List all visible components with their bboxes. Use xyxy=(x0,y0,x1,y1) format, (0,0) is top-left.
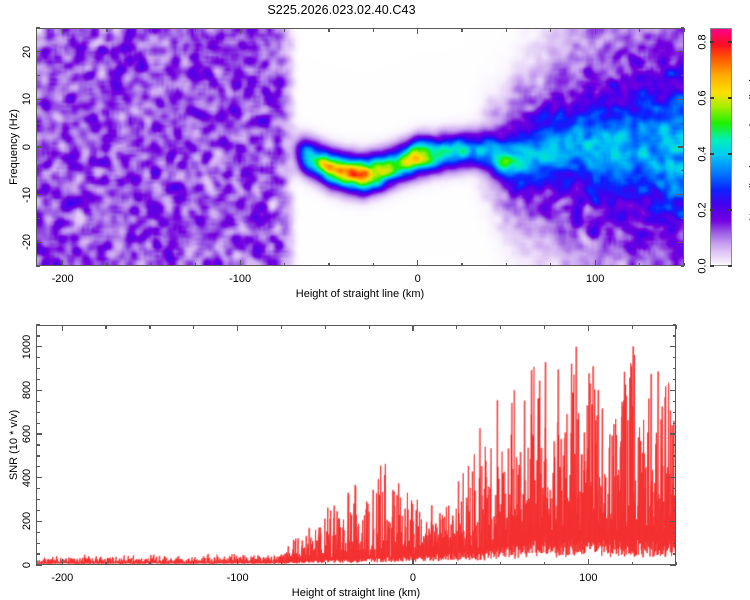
y-tick-right xyxy=(673,324,677,325)
x-tick xyxy=(369,562,370,566)
x-tick-top xyxy=(105,325,106,329)
x-tick xyxy=(500,562,501,566)
y-tick xyxy=(36,466,40,467)
x-tick xyxy=(595,260,596,266)
y-tick xyxy=(36,521,42,522)
x-tick-top xyxy=(595,28,596,34)
x-tick-label: 100 xyxy=(586,273,604,285)
x-tick-top xyxy=(151,28,152,32)
y-tick-right xyxy=(673,455,677,456)
y-tick-label: 1000 xyxy=(21,335,33,359)
y-tick xyxy=(36,499,40,500)
y-tick-label: 0 xyxy=(21,562,33,568)
x-tick xyxy=(506,263,507,267)
x-tick-top xyxy=(149,325,150,329)
y-tick-right xyxy=(670,390,676,391)
y-tick xyxy=(36,510,40,511)
snr-panel xyxy=(36,325,676,565)
y-tick-label: 800 xyxy=(21,381,33,399)
x-tick xyxy=(62,559,63,565)
y-tick-right xyxy=(681,265,685,266)
y-tick xyxy=(36,564,42,565)
x-tick-label: -100 xyxy=(227,572,249,584)
spectrogram-x-axis-title: Height of straight line (km) xyxy=(296,288,424,300)
y-tick-right xyxy=(673,368,677,369)
y-tick xyxy=(36,553,40,554)
colorbar-tick xyxy=(728,41,732,42)
y-tick-right xyxy=(673,444,677,445)
x-tick-label: -100 xyxy=(229,273,251,285)
y-tick xyxy=(36,433,42,434)
x-tick-top xyxy=(369,325,370,329)
snr-y-axis-title: SNR (10 * v/v) xyxy=(8,410,20,480)
y-tick xyxy=(36,324,40,325)
y-tick xyxy=(36,218,40,219)
x-tick-top xyxy=(237,325,238,331)
y-tick-right xyxy=(681,218,685,219)
x-tick-top xyxy=(417,28,418,34)
y-tick xyxy=(36,27,40,28)
y-tick xyxy=(36,170,40,171)
y-tick-label: 200 xyxy=(21,512,33,530)
colorbar-tick xyxy=(710,265,714,266)
y-tick xyxy=(36,390,42,391)
x-tick-top xyxy=(461,28,462,32)
y-tick-right xyxy=(673,488,677,489)
y-tick xyxy=(36,265,40,266)
y-tick xyxy=(36,146,42,147)
y-tick-right xyxy=(673,553,677,554)
y-tick-right xyxy=(673,532,677,533)
y-tick-right xyxy=(673,499,677,500)
x-tick-top xyxy=(62,325,63,331)
x-tick xyxy=(461,263,462,267)
y-tick xyxy=(36,532,40,533)
spectrogram-panel xyxy=(36,28,684,266)
y-tick-right xyxy=(681,75,685,76)
x-tick-top xyxy=(328,28,329,32)
y-tick-label: 10 xyxy=(21,93,33,105)
x-tick xyxy=(412,559,413,565)
colorbar-tick-label: 0.2 xyxy=(696,202,708,217)
y-tick-right xyxy=(681,27,685,28)
x-tick xyxy=(62,260,63,266)
y-tick xyxy=(36,242,42,243)
y-tick-right xyxy=(681,123,685,124)
y-tick-right xyxy=(681,170,685,171)
x-tick xyxy=(588,559,589,565)
x-tick xyxy=(328,263,329,267)
x-tick-top xyxy=(506,28,507,32)
x-tick-top xyxy=(193,325,194,329)
x-tick-top xyxy=(544,325,545,329)
figure-title: S225.2026.023.02.40.C43 xyxy=(0,3,683,17)
x-tick-label: 0 xyxy=(410,572,416,584)
y-tick xyxy=(36,488,40,489)
y-tick-right xyxy=(673,357,677,358)
y-tick-right xyxy=(678,146,684,147)
y-tick-right xyxy=(673,466,677,467)
y-tick xyxy=(36,477,42,478)
colorbar-tick-label: 0.6 xyxy=(696,90,708,105)
y-tick xyxy=(36,123,40,124)
colorbar-tick-label: 0.8 xyxy=(696,34,708,49)
x-tick-top xyxy=(639,28,640,32)
y-tick-label: 0 xyxy=(21,144,33,150)
colorbar-tick xyxy=(710,209,714,210)
x-tick-top xyxy=(240,28,241,34)
x-tick xyxy=(281,562,282,566)
x-tick xyxy=(193,562,194,566)
x-tick-label: 100 xyxy=(579,572,597,584)
spectrogram-y-axis-title: Frequency (Hz) xyxy=(8,109,20,185)
y-tick xyxy=(36,357,40,358)
y-tick-right xyxy=(673,379,677,380)
y-tick xyxy=(36,99,42,100)
colorbar-tick-label: 0.4 xyxy=(696,146,708,161)
colorbar-tick xyxy=(710,97,714,98)
colorbar-tick-label: 0.0 xyxy=(696,258,708,273)
colorbar-tick xyxy=(728,97,732,98)
y-tick-right xyxy=(673,412,677,413)
snr-x-axis-title: Height of straight line (km) xyxy=(292,587,420,599)
y-tick-right xyxy=(678,194,684,195)
y-tick-label: 600 xyxy=(21,425,33,443)
y-tick-right xyxy=(673,423,677,424)
x-tick xyxy=(544,562,545,566)
y-tick-right xyxy=(670,521,676,522)
y-tick xyxy=(36,444,40,445)
x-tick xyxy=(639,263,640,267)
y-tick xyxy=(36,412,40,413)
colorbar-tick xyxy=(728,153,732,154)
x-tick xyxy=(195,263,196,267)
snr-canvas xyxy=(37,326,675,564)
y-tick-right xyxy=(678,99,684,100)
x-tick-top xyxy=(412,325,413,331)
x-tick xyxy=(550,263,551,267)
y-tick-label: 400 xyxy=(21,469,33,487)
colorbar-tick xyxy=(728,265,732,266)
x-tick xyxy=(373,263,374,267)
x-tick-top xyxy=(373,28,374,32)
y-tick-label: -10 xyxy=(21,187,33,203)
y-tick xyxy=(36,379,40,380)
x-tick-label: -200 xyxy=(52,273,74,285)
y-tick-right xyxy=(673,401,677,402)
y-tick xyxy=(36,543,40,544)
y-tick xyxy=(36,455,40,456)
x-tick-top xyxy=(62,28,63,34)
x-tick-top xyxy=(106,28,107,32)
y-tick-right xyxy=(670,477,676,478)
y-tick xyxy=(36,51,42,52)
colorbar-gradient xyxy=(710,28,732,266)
x-tick-top xyxy=(632,325,633,329)
x-tick xyxy=(325,562,326,566)
x-tick-top xyxy=(325,325,326,329)
x-tick xyxy=(237,559,238,565)
x-tick xyxy=(106,263,107,267)
y-tick-right xyxy=(670,433,676,434)
colorbar-tick xyxy=(710,41,714,42)
y-tick-right xyxy=(670,564,676,565)
y-tick xyxy=(36,335,40,336)
x-tick xyxy=(151,263,152,267)
figure-root: S225.2026.023.02.40.C43 -200-1000100-20-… xyxy=(0,0,750,600)
spectrogram-canvas xyxy=(37,29,683,265)
x-tick xyxy=(149,562,150,566)
y-tick-label: 20 xyxy=(21,46,33,58)
y-tick-label: -20 xyxy=(21,234,33,250)
x-tick xyxy=(284,263,285,267)
colorbar-tick xyxy=(728,209,732,210)
x-tick-label: 0 xyxy=(415,273,421,285)
y-tick xyxy=(36,75,40,76)
x-tick-top xyxy=(195,28,196,32)
x-tick xyxy=(456,562,457,566)
y-tick-right xyxy=(670,346,676,347)
y-tick xyxy=(36,401,40,402)
y-tick xyxy=(36,346,42,347)
x-tick xyxy=(105,562,106,566)
x-tick-top xyxy=(284,28,285,32)
x-tick-top xyxy=(500,325,501,329)
y-tick-right xyxy=(678,242,684,243)
x-tick-top xyxy=(550,28,551,32)
x-tick xyxy=(417,260,418,266)
x-tick-top xyxy=(588,325,589,331)
y-tick-right xyxy=(673,510,677,511)
y-tick xyxy=(36,368,40,369)
y-tick-right xyxy=(673,335,677,336)
y-tick-right xyxy=(673,543,677,544)
x-tick xyxy=(240,260,241,266)
x-tick xyxy=(632,562,633,566)
x-tick-top xyxy=(281,325,282,329)
y-tick-right xyxy=(678,51,684,52)
y-tick xyxy=(36,423,40,424)
x-tick-top xyxy=(456,325,457,329)
colorbar-tick xyxy=(710,153,714,154)
x-tick-label: -200 xyxy=(51,572,73,584)
y-tick xyxy=(36,194,42,195)
